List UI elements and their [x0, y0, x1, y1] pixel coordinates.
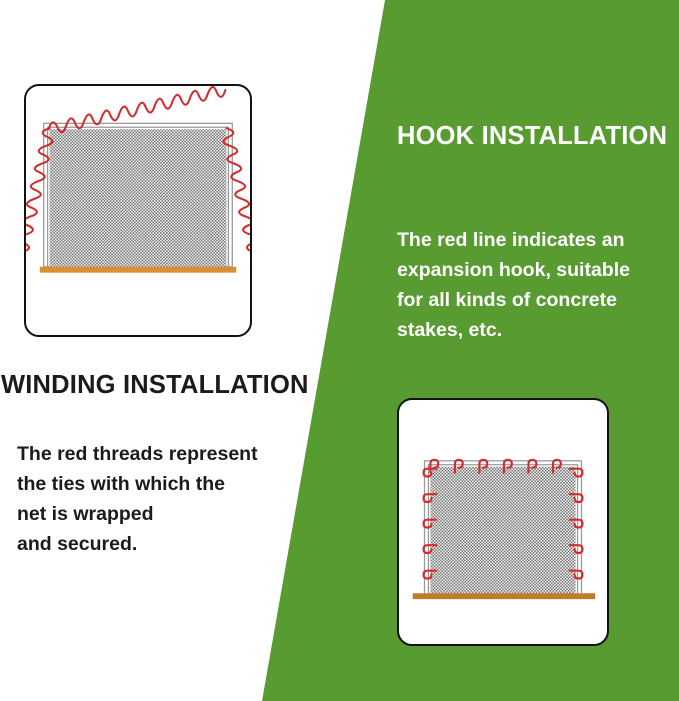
winding-installation-illustration	[26, 86, 250, 335]
winding-section-title: WINDING INSTALLATION	[1, 371, 309, 400]
hook-section-title: HOOK INSTALLATION	[397, 122, 667, 151]
hook-section-body: The red line indicates an expansion hook…	[397, 225, 630, 345]
hook-diagram-card	[397, 398, 609, 646]
red-winding-top	[49, 87, 226, 132]
red-winding-right	[223, 128, 250, 269]
product-infographic: WINDING INSTALLATION The red threads rep…	[0, 0, 679, 701]
winding-section-body: The red threads represent the ties with …	[17, 439, 258, 559]
ground-bar	[40, 267, 236, 273]
ground-bar	[413, 593, 595, 599]
red-winding-left	[26, 128, 53, 269]
winding-diagram-card	[24, 84, 252, 337]
hook-installation-illustration	[399, 400, 607, 643]
